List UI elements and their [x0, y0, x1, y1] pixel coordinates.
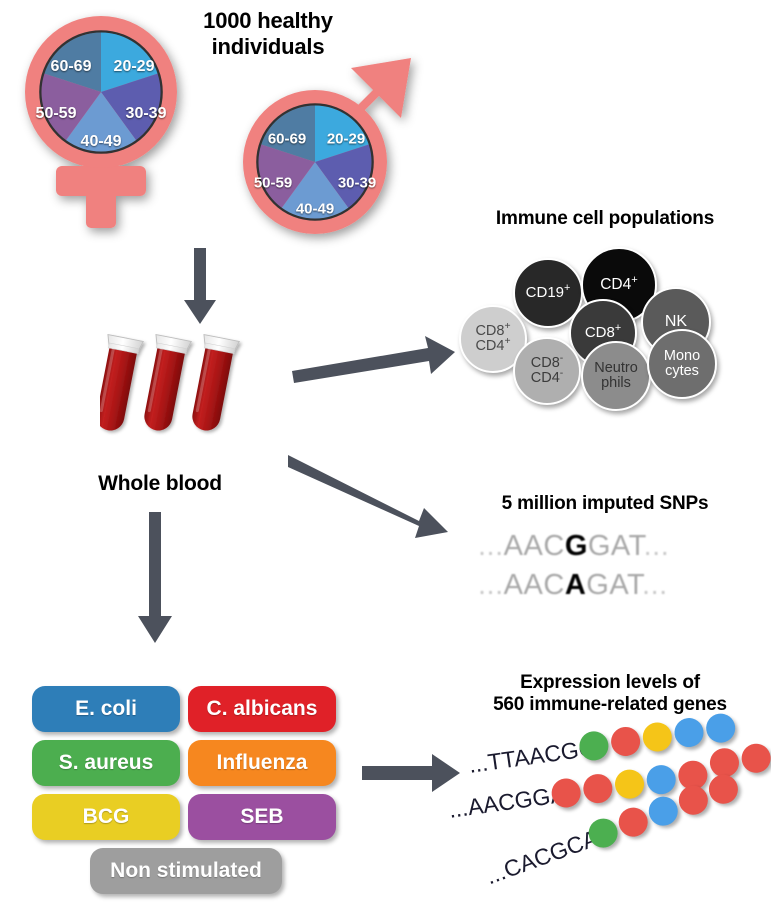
snp-ellipsis-left: ... — [478, 569, 504, 601]
expression-dot — [581, 772, 614, 805]
arrow-blood-to-immune — [292, 330, 457, 385]
arrow-blood-to-snps — [288, 455, 453, 550]
expression-dot — [645, 763, 678, 796]
immune-cell-neutrophils: Neutro phils — [581, 341, 651, 411]
snp-ellipsis-left: ... — [478, 530, 504, 562]
female-age-pie — [42, 33, 161, 152]
expression-dot — [673, 716, 706, 749]
blood-tube — [100, 335, 143, 434]
immune-cell-label: CD8+ — [585, 325, 621, 341]
expression-title: Expression levels of 560 immune-related … — [455, 672, 765, 717]
female-symbol-shape — [8, 10, 208, 240]
snp-suffix-bases: GAT — [586, 569, 642, 601]
male-gender-symbol: 20-29 30-39 40-49 50-59 60-69 — [205, 28, 435, 258]
snp-ellipsis-right: ... — [642, 569, 668, 601]
arrow-cohort-to-blood — [180, 248, 220, 328]
stimulus-influenza[interactable]: Influenza — [188, 740, 336, 786]
stimulus-non-stimulated[interactable]: Non stimulated — [90, 848, 282, 894]
arrow-blood-to-stimuli — [135, 512, 177, 647]
male-age-pie — [259, 106, 372, 219]
immune-cell-cd8n-cd4n: CD8- CD4- — [513, 337, 581, 405]
stimulus-e-coli[interactable]: E. coli — [32, 686, 180, 732]
stimulus-label: BCG — [83, 805, 130, 829]
snp-allele: G — [565, 530, 588, 562]
whole-blood-tubes — [100, 330, 280, 450]
expression-dot — [675, 782, 712, 819]
blood-tube — [138, 335, 191, 434]
snp-row: ...AACAGAT... — [478, 569, 668, 602]
snp-allele: A — [565, 569, 586, 601]
stimulus-bcg[interactable]: BCG — [32, 794, 180, 840]
stimulus-label: Non stimulated — [110, 859, 262, 883]
stimuli-panel: E. coli C. albicans S. aureus Influenza … — [32, 686, 342, 886]
expression-dot — [705, 771, 742, 808]
stimulus-label: S. aureus — [59, 751, 154, 775]
expression-strands: ...TTAACGG ...AACGGAT ...CACGCAA — [455, 726, 771, 906]
expression-dot — [645, 793, 682, 830]
immune-cell-label: CD4+ — [600, 277, 638, 293]
arrow-stimuli-to-expression — [362, 752, 462, 794]
immune-cell-cluster: CD8+ CD4+ CD19+ CD4+ NK CD8+ — [455, 245, 755, 410]
expression-sequence: ...TTAACGG — [467, 734, 598, 779]
figure-canvas: 1000 healthy individuals — [0, 0, 771, 922]
expression-dot — [613, 768, 646, 801]
expression-dot — [615, 804, 652, 841]
female-gender-symbol: 20-29 30-39 40-49 50-59 60-69 — [8, 10, 208, 240]
snp-prefix-bases: AAC — [504, 569, 565, 601]
stimulus-label: E. coli — [75, 697, 137, 721]
immune-title: Immune cell populations — [455, 208, 755, 230]
snp-ellipsis-right: ... — [644, 530, 670, 562]
immune-cell-label: Mono cytes — [664, 349, 700, 380]
expression-title-line1: Expression levels of — [455, 672, 765, 694]
snp-suffix-bases: GAT — [588, 530, 644, 562]
stimulus-label: Influenza — [216, 751, 307, 775]
immune-cell-label: NK — [665, 314, 687, 331]
snps-title: 5 million imputed SNPs — [460, 493, 750, 515]
snp-sequence-block: ...AACGGAT... ...AACAGAT... — [478, 530, 748, 610]
snp-row: ...AACGGAT... — [478, 530, 669, 563]
stimulus-seb[interactable]: SEB — [188, 794, 336, 840]
stimulus-c-albicans[interactable]: C. albicans — [188, 686, 336, 732]
blood-tube — [186, 335, 239, 434]
immune-cell-monocytes: Mono cytes — [647, 329, 717, 399]
stimulus-s-aureus[interactable]: S. aureus — [32, 740, 180, 786]
stimulus-label: SEB — [240, 805, 283, 829]
snp-prefix-bases: AAC — [504, 530, 565, 562]
immune-cell-label: Neutro phils — [594, 361, 638, 392]
stimulus-label: C. albicans — [207, 697, 318, 721]
expression-dot — [641, 721, 674, 754]
whole-blood-label: Whole blood — [60, 472, 260, 497]
male-symbol-shape — [205, 28, 435, 258]
expression-dot — [740, 742, 771, 775]
immune-cell-label: CD8- CD4- — [531, 356, 564, 387]
expression-dot — [609, 725, 642, 758]
immune-cell-label: CD19+ — [526, 285, 571, 301]
blood-tube-group — [100, 330, 280, 450]
immune-cell-label: CD8+ CD4+ — [475, 324, 510, 355]
